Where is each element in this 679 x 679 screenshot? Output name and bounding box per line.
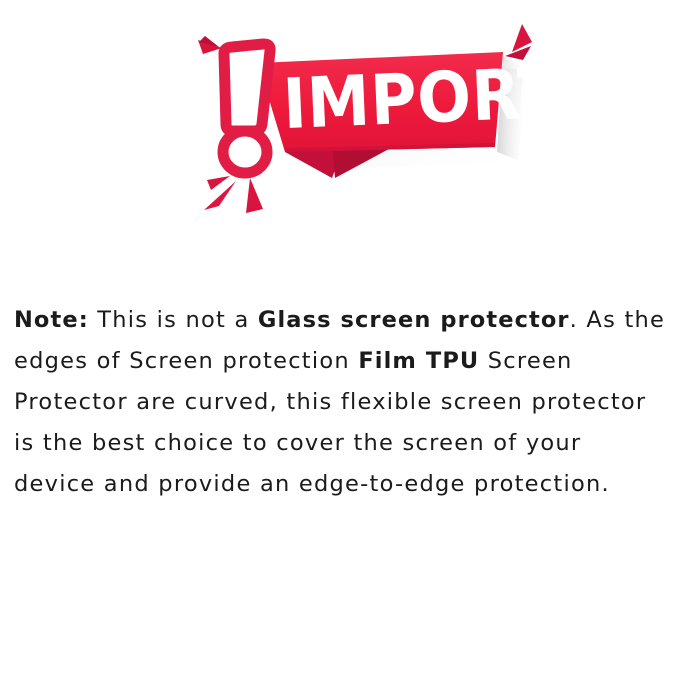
note-emphasis-film-tpu: Film TPU: [358, 348, 479, 374]
banner-label: IMPORTANT: [281, 46, 679, 145]
exclamation-bar: [224, 44, 270, 131]
note-text-1: This is not a: [89, 307, 258, 333]
exclamation-dot: [223, 131, 267, 173]
important-banner-graphic: IMPORTANT: [0, 0, 679, 250]
important-badge: IMPORTANT: [0, 0, 679, 250]
exclamation-mark-icon: [223, 44, 270, 173]
spark-bottom-center: [246, 178, 263, 213]
spark-bottom-left-small: [207, 176, 230, 190]
spark-bottom-left-large: [204, 181, 236, 210]
notice-page: IMPORTANT Note: This is not a: [0, 0, 679, 679]
note-block: Note: This is not a Glass screen protect…: [14, 300, 666, 505]
note-label: Note:: [14, 307, 89, 333]
note-emphasis-glass: Glass screen protector: [258, 307, 570, 333]
banner-label-group: IMPORTANT: [281, 46, 679, 145]
note-paragraph: Note: This is not a Glass screen protect…: [14, 300, 666, 505]
